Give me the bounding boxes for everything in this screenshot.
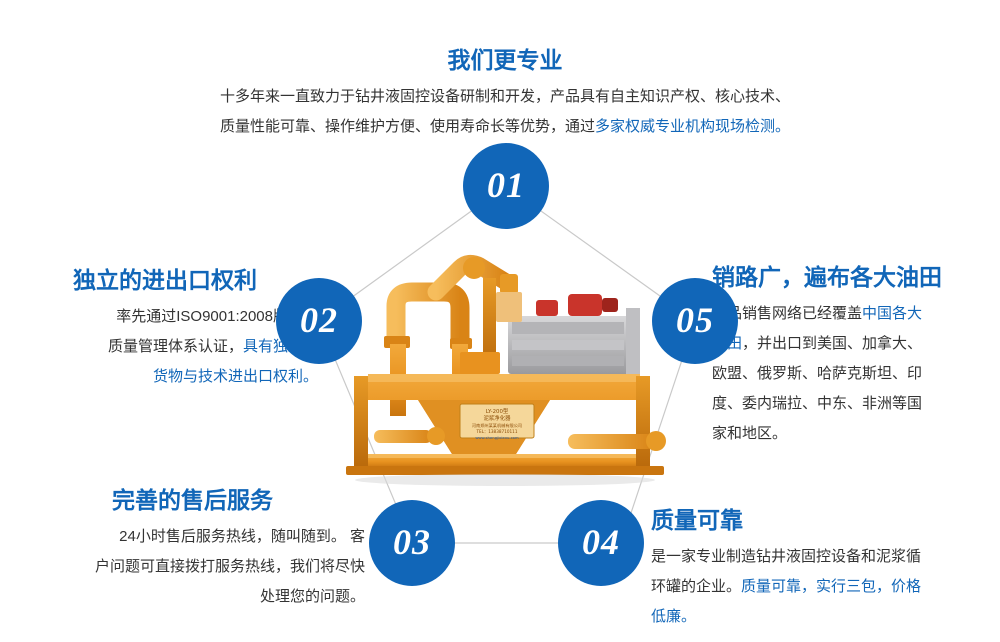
section-4-line-3: 低廉。 [651,602,981,632]
section-1-line-2-plain: 质量性能可靠、操作维护方便、使用寿命长等优势，通过 [220,118,595,135]
product-image: LY-200型 泥浆净化器 河南郑州某某机械有限公司 TEL：138387101… [340,248,670,486]
svg-text:LY-200型: LY-200型 [486,407,509,415]
section-2-line-1: 率先通过ISO9001:2008版国际 [18,302,318,332]
section-4-line-2-plain: 环罐的企业。 [651,578,741,595]
section-2-line-2-plain: 质量管理体系认证， [108,338,243,355]
section-wide-sales-network: 销路广，遍布各大油田 产品销售网络已经覆盖中国各大 油田，并出口到美国、加拿大、… [712,262,977,449]
section-5-title: 销路广，遍布各大油田 [712,262,977,292]
section-4-line-2: 环罐的企业。质量可靠，实行三包，价格 [651,572,981,602]
section-1-title: 我们更专业 [150,45,860,75]
badge-02-label: 02 [300,299,338,341]
section-2-body: 率先通过ISO9001:2008版国际 质量管理体系认证，具有独立的 货物与技术… [18,302,318,392]
section-3-body: 24小时售后服务热线，随叫随到。 客 户问题可直接拨打服务热线，我们将尽快 处理… [20,522,365,612]
section-reliable-quality: 质量可靠 是一家专业制造钻井液固控设备和泥浆循 环罐的企业。质量可靠，实行三包，… [651,505,981,632]
section-5-line-1-highlight: 中国各大 [862,305,922,322]
badge-03-label: 03 [393,521,431,563]
section-after-sales-service: 完善的售后服务 24小时售后服务热线，随叫随到。 客 户问题可直接拨打服务热线，… [20,485,365,612]
section-5-line-2: 油田，并出口到美国、加拿大、 [712,329,977,359]
section-3-line-3: 处理您的问题。 [20,582,365,612]
badge-02[interactable]: 02 [276,278,362,364]
svg-text:www.shengjixiexu.com: www.shengjixiexu.com [475,435,519,440]
badge-01[interactable]: 01 [463,143,549,229]
section-3-line-1: 24小时售后服务热线，随叫随到。 客 [20,522,365,552]
section-5-line-3: 欧盟、俄罗斯、哈萨克斯坦、印 [712,359,977,389]
svg-text:TEL：13838710111: TEL：13838710111 [475,429,517,434]
infographic-page: LY-200型 泥浆净化器 河南郑州某某机械有限公司 TEL：138387101… [0,0,1000,642]
badge-03[interactable]: 03 [369,500,455,586]
badge-05[interactable]: 05 [652,278,738,364]
section-3-line-2: 户问题可直接拨打服务热线，我们将尽快 [20,552,365,582]
badge-01-label: 01 [487,164,525,206]
section-1-line-2-highlight: 多家权威专业机构现场检测。 [595,118,790,135]
svg-text:泥浆净化器: 泥浆净化器 [484,414,512,422]
section-4-body: 是一家专业制造钻井液固控设备和泥浆循 环罐的企业。质量可靠，实行三包，价格 低廉… [651,542,981,632]
section-1-body: 十多年来一直致力于钻井液固控设备研制和开发，产品具有自主知识产权、核心技术、 质… [150,82,860,142]
section-4-line-2-highlight: 质量可靠，实行三包，价格 [741,578,921,595]
svg-text:河南郑州某某机械有限公司: 河南郑州某某机械有限公司 [472,422,522,429]
section-5-body: 产品销售网络已经覆盖中国各大 油田，并出口到美国、加拿大、 欧盟、俄罗斯、哈萨克… [712,299,977,449]
section-4-title: 质量可靠 [651,505,981,535]
section-1-line-1: 十多年来一直致力于钻井液固控设备研制和开发，产品具有自主知识产权、核心技术、 [150,82,860,112]
section-1-line-2: 质量性能可靠、操作维护方便、使用寿命长等优势，通过多家权威专业机构现场检测。 [150,112,860,142]
section-we-are-professional: 我们更专业 十多年来一直致力于钻井液固控设备研制和开发，产品具有自主知识产权、核… [150,45,860,142]
section-5-line-2-plain: ，并出口到美国、加拿大、 [742,335,922,352]
section-2-line-2: 质量管理体系认证，具有独立的 [18,332,318,362]
section-5-line-4: 度、委内瑞拉、中东、非洲等国 [712,389,977,419]
section-2-title: 独立的进出口权利 [18,265,318,295]
badge-04-label: 04 [582,521,620,563]
section-5-line-1: 产品销售网络已经覆盖中国各大 [712,299,977,329]
section-5-line-5: 家和地区。 [712,419,977,449]
section-import-export-rights: 独立的进出口权利 率先通过ISO9001:2008版国际 质量管理体系认证，具有… [18,265,318,392]
badge-04[interactable]: 04 [558,500,644,586]
section-2-line-3: 货物与技术进出口权利。 [18,362,318,392]
section-3-title: 完善的售后服务 [20,485,365,515]
badge-05-label: 05 [676,299,714,341]
section-4-line-1: 是一家专业制造钻井液固控设备和泥浆循 [651,542,981,572]
